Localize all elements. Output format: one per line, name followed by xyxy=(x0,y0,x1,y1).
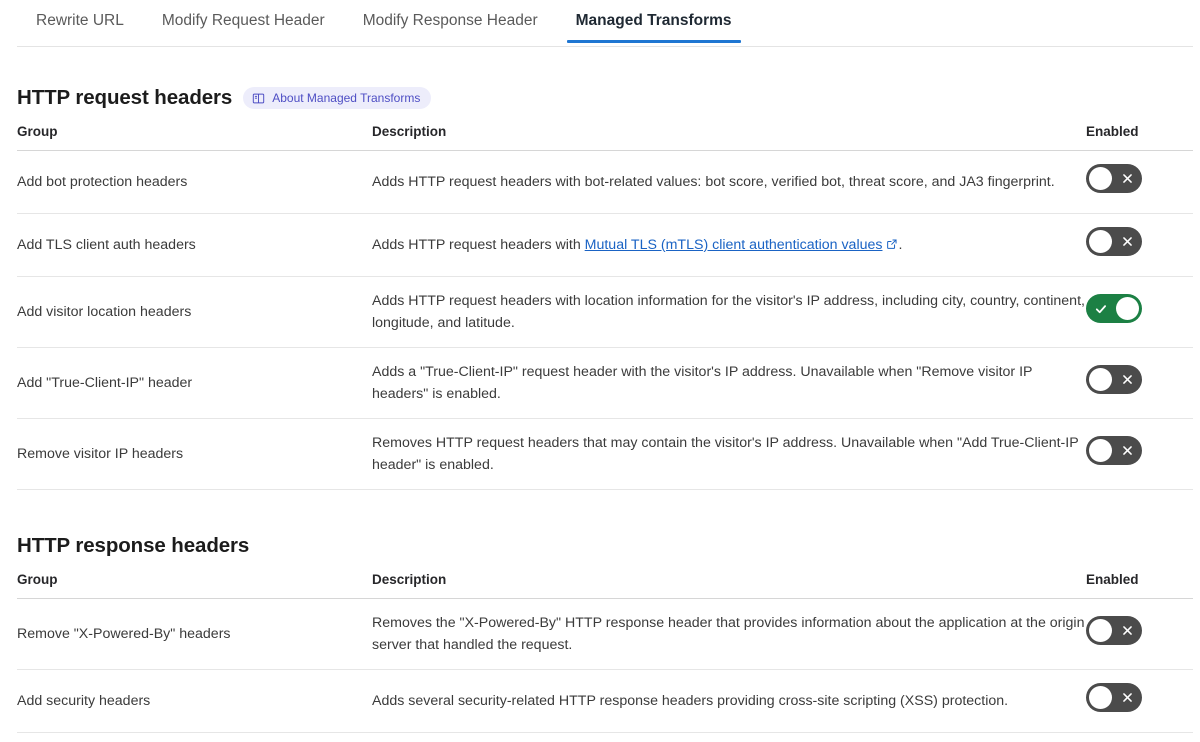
book-icon xyxy=(252,92,265,105)
row-description: Adds HTTP request headers with bot-relat… xyxy=(372,151,1086,214)
column-header-group: Group xyxy=(17,124,372,151)
toggle-knob xyxy=(1089,619,1112,642)
toggle-knob xyxy=(1089,368,1112,391)
description-prefix: Adds HTTP request headers with xyxy=(372,237,585,253)
tab-modify-response-header[interactable]: Modify Response Header xyxy=(344,0,557,43)
row-group-label: Add security headers xyxy=(17,670,372,733)
close-icon xyxy=(1114,436,1140,465)
row-group-label: Remove visitor IP headers xyxy=(17,419,372,490)
toggle-knob xyxy=(1116,297,1139,320)
toggle-add-visitor-location-headers[interactable] xyxy=(1086,294,1142,323)
section-http-request-headers: HTTP request headers About Managed Trans… xyxy=(0,86,1200,490)
table-row: Add TLS client auth headers Adds HTTP re… xyxy=(17,214,1193,277)
mutual-tls-link[interactable]: Mutual TLS (mTLS) client authentication … xyxy=(585,237,883,253)
toggle-remove-visitor-ip-headers[interactable] xyxy=(1086,436,1142,465)
row-description: Removes HTTP request headers that may co… xyxy=(372,419,1086,490)
row-description: Adds HTTP request headers with location … xyxy=(372,277,1086,348)
toggle-add-true-client-ip-header[interactable] xyxy=(1086,365,1142,394)
page-title: HTTP request headers xyxy=(17,86,232,110)
toggle-remove-x-powered-by-headers[interactable] xyxy=(1086,616,1142,645)
table-header-row: Group Description Enabled xyxy=(17,124,1193,151)
row-enabled-cell xyxy=(1086,214,1193,277)
section-spacer xyxy=(0,490,1200,534)
row-group-label: Add "True-Client-IP" header xyxy=(17,348,372,419)
column-header-enabled: Enabled xyxy=(1086,572,1193,599)
row-description: Removes the "X-Powered-By" HTTP response… xyxy=(372,599,1086,670)
toggle-knob xyxy=(1089,230,1112,253)
close-icon xyxy=(1114,365,1140,394)
table-row: Add visitor location headers Adds HTTP r… xyxy=(17,277,1193,348)
column-header-group: Group xyxy=(17,572,372,599)
row-enabled-cell xyxy=(1086,670,1193,733)
section-http-response-headers: HTTP response headers Group Description … xyxy=(0,534,1200,733)
row-enabled-cell xyxy=(1086,419,1193,490)
check-icon xyxy=(1088,294,1114,323)
close-icon xyxy=(1114,683,1140,712)
external-link-icon[interactable] xyxy=(886,235,898,247)
page-title: HTTP response headers xyxy=(17,534,249,558)
toggle-knob xyxy=(1089,439,1112,462)
column-header-enabled: Enabled xyxy=(1086,124,1193,151)
about-pill-label: About Managed Transforms xyxy=(272,91,420,105)
toggle-add-bot-protection-headers[interactable] xyxy=(1086,164,1142,193)
row-enabled-cell xyxy=(1086,348,1193,419)
row-enabled-cell xyxy=(1086,151,1193,214)
table-row: Remove "X-Powered-By" headers Removes th… xyxy=(17,599,1193,670)
row-description: Adds a "True-Client-IP" request header w… xyxy=(372,348,1086,419)
tab-managed-transforms[interactable]: Managed Transforms xyxy=(557,0,751,43)
table-header-row: Group Description Enabled xyxy=(17,572,1193,599)
table-row: Add security headers Adds several securi… xyxy=(17,670,1193,733)
about-managed-transforms-link[interactable]: About Managed Transforms xyxy=(243,87,431,109)
toggle-add-security-headers[interactable] xyxy=(1086,683,1142,712)
row-enabled-cell xyxy=(1086,599,1193,670)
tab-bar: Rewrite URL Modify Request Header Modify… xyxy=(0,0,1200,47)
section-header: HTTP request headers About Managed Trans… xyxy=(17,86,1183,110)
row-group-label: Add bot protection headers xyxy=(17,151,372,214)
column-header-description: Description xyxy=(372,572,1086,599)
row-description: Adds HTTP request headers with Mutual TL… xyxy=(372,214,1086,277)
toggle-knob xyxy=(1089,167,1112,190)
row-group-label: Add TLS client auth headers xyxy=(17,214,372,277)
close-icon xyxy=(1114,164,1140,193)
tab-rewrite-url[interactable]: Rewrite URL xyxy=(17,0,143,43)
toggle-add-tls-client-auth-headers[interactable] xyxy=(1086,227,1142,256)
row-group-label: Remove "X-Powered-By" headers xyxy=(17,599,372,670)
tab-modify-request-header[interactable]: Modify Request Header xyxy=(143,0,344,43)
description-suffix: . xyxy=(898,237,902,253)
toggle-knob xyxy=(1089,686,1112,709)
response-headers-table: Group Description Enabled Remove "X-Powe… xyxy=(17,572,1193,733)
row-enabled-cell xyxy=(1086,277,1193,348)
close-icon xyxy=(1114,227,1140,256)
table-row: Add bot protection headers Adds HTTP req… xyxy=(17,151,1193,214)
section-header: HTTP response headers xyxy=(17,534,1183,558)
row-group-label: Add visitor location headers xyxy=(17,277,372,348)
request-headers-table: Group Description Enabled Add bot protec… xyxy=(17,124,1193,490)
table-row: Remove visitor IP headers Removes HTTP r… xyxy=(17,419,1193,490)
close-icon xyxy=(1114,616,1140,645)
column-header-description: Description xyxy=(372,124,1086,151)
row-description: Adds several security-related HTTP respo… xyxy=(372,670,1086,733)
table-row: Add "True-Client-IP" header Adds a "True… xyxy=(17,348,1193,419)
